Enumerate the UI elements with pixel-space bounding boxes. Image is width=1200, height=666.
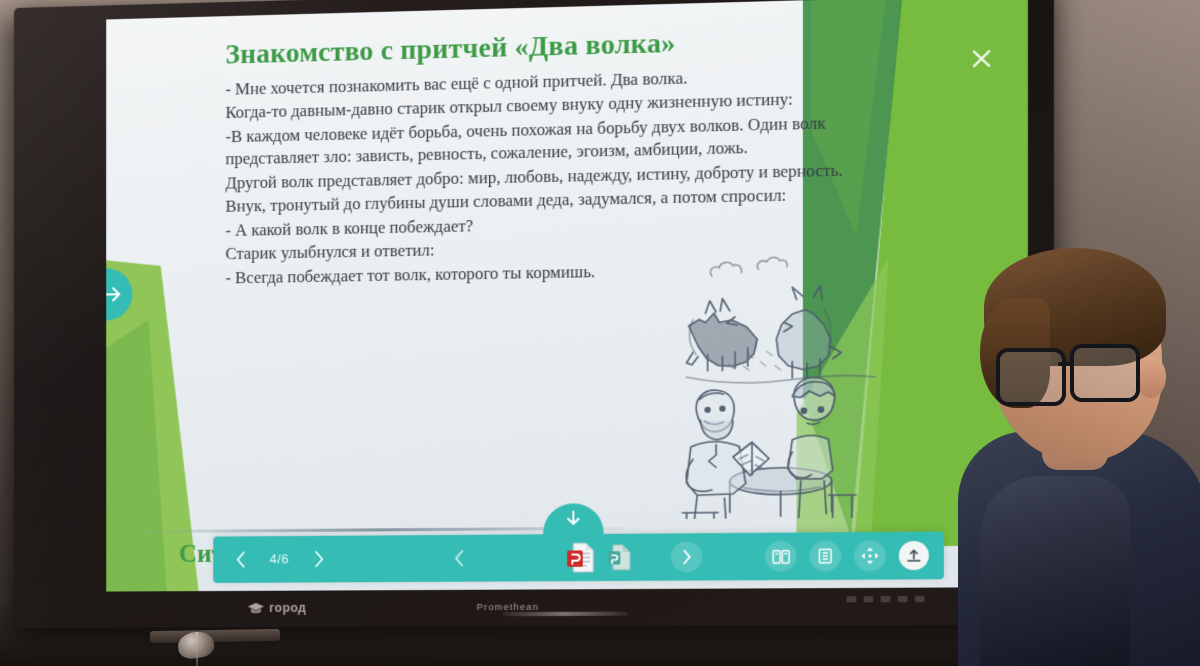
next-slide-circle-button[interactable] — [671, 541, 703, 572]
slide-illustration-group — [670, 250, 893, 519]
student-figure — [950, 246, 1200, 666]
grandfather-and-boy-drawing — [682, 377, 856, 519]
student-hoodie-fold — [980, 476, 1130, 666]
classroom-scene: Знакомство с притчей «Два волка» - Мне х… — [0, 0, 1200, 666]
presentation-toolbar[interactable]: 4/6 — [213, 532, 944, 583]
bezel-key[interactable] — [881, 596, 891, 602]
upload-icon[interactable] — [899, 541, 929, 570]
bezel-control-keys[interactable] — [847, 596, 925, 603]
document-tools-group[interactable] — [446, 540, 703, 574]
institution-brand: город — [248, 601, 306, 615]
toolbar-collapse-handle[interactable] — [543, 503, 604, 534]
prev-page-button[interactable] — [227, 546, 253, 572]
bezel-key[interactable] — [915, 596, 925, 602]
graduation-cap-icon — [248, 602, 264, 613]
pan-move-icon[interactable] — [854, 540, 886, 571]
bezel-key[interactable] — [847, 596, 857, 602]
bezel-key[interactable] — [898, 596, 908, 602]
student-glasses — [996, 346, 1156, 398]
bezel-speaker-strip — [503, 612, 628, 617]
teal-file-icon[interactable] — [608, 544, 631, 571]
single-page-view-icon[interactable] — [809, 541, 841, 572]
back-chevron-button[interactable] — [446, 545, 473, 572]
page-navigation-group[interactable]: 4/6 — [227, 546, 331, 573]
presentation-slide[interactable]: Знакомство с притчей «Два волка» - Мне х… — [106, 0, 1028, 592]
hanging-string — [196, 632, 198, 666]
view-tools-group[interactable] — [765, 540, 929, 572]
slide-title: Знакомство с притчей «Два волка» — [225, 23, 871, 70]
split-view-icon[interactable] — [765, 541, 797, 572]
powerpoint-file-icon[interactable] — [566, 541, 595, 574]
two-wolves-drawing — [687, 256, 876, 384]
glasses-lens-right — [1070, 344, 1140, 402]
glasses-lens-left — [996, 348, 1066, 406]
interactive-display-bezel: Знакомство с притчей «Два волка» - Мне х… — [14, 0, 1054, 628]
close-icon[interactable] — [968, 45, 996, 73]
brand-label-promethean: Promethean — [477, 602, 539, 612]
bezel-key[interactable] — [864, 596, 874, 602]
next-page-button[interactable] — [305, 546, 332, 572]
display-screen[interactable]: Знакомство с притчей «Два волка» - Мне х… — [106, 0, 1028, 592]
page-indicator: 4/6 — [264, 552, 295, 566]
institution-label: город — [269, 601, 306, 615]
pen-tray — [150, 629, 280, 643]
